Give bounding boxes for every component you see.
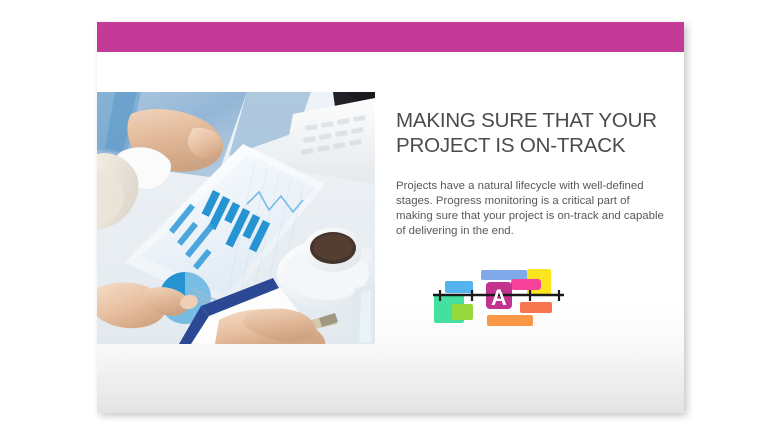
logo-letter: A (491, 285, 507, 310)
blue-bar-top (481, 270, 527, 280)
yellow-green-block (452, 304, 473, 320)
header-band (97, 22, 684, 52)
blue-bar-left (445, 281, 473, 293)
project-timeline-graphic: A (431, 264, 576, 342)
pink-bar (511, 279, 541, 290)
salmon-bar-right (520, 302, 552, 313)
slide-photo (97, 92, 375, 344)
slide-canvas: MAKING SURE THAT YOUR PROJECT IS ON-TRAC… (0, 0, 770, 440)
content-column: MAKING SURE THAT YOUR PROJECT IS ON-TRAC… (396, 108, 664, 239)
orange-bar-bottom (487, 315, 533, 326)
page-title: MAKING SURE THAT YOUR PROJECT IS ON-TRAC… (396, 108, 664, 158)
body-paragraph: Projects have a natural lifecycle with w… (396, 179, 664, 239)
slide-card: MAKING SURE THAT YOUR PROJECT IS ON-TRAC… (97, 22, 684, 413)
